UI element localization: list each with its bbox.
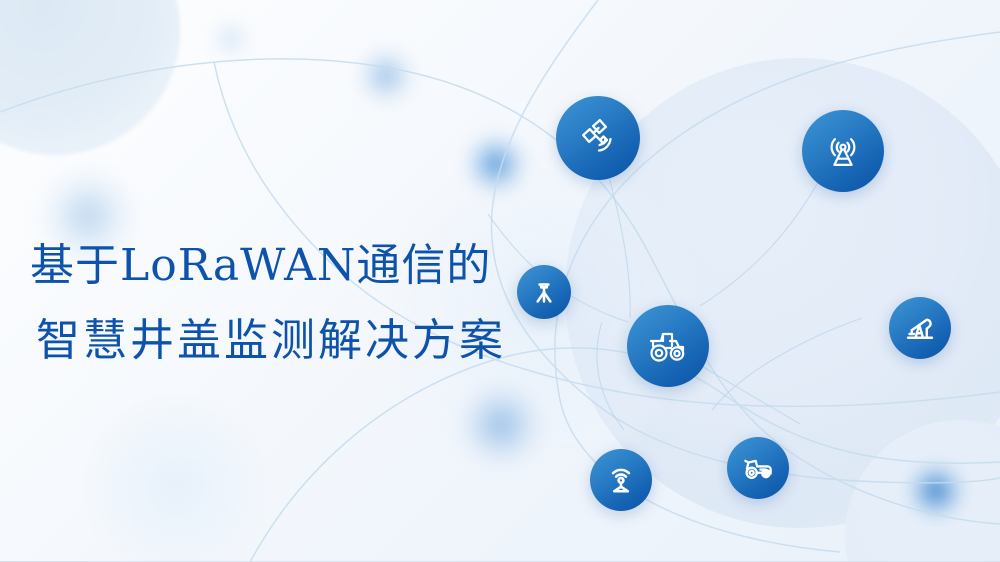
node-oil-pumpjack[interactable] <box>889 297 951 359</box>
accent-dot-top <box>210 18 252 60</box>
survey-tripod-icon <box>529 277 559 307</box>
wireless-sensor-icon <box>603 462 639 498</box>
node-radio-tower[interactable] <box>802 110 884 192</box>
accent-dot-center <box>462 130 530 198</box>
slide-title: 基于LoRaWAN通信的 智慧井盖监测解决方案 <box>30 228 550 378</box>
node-harvester[interactable] <box>727 437 789 499</box>
radio-tower-icon <box>820 128 866 174</box>
accent-dot-bottom-right <box>905 460 967 522</box>
background-sphere-bottom-left <box>90 400 260 562</box>
presentation-slide: 基于LoRaWAN通信的 智慧井盖监测解决方案 <box>0 0 1000 562</box>
background-sphere-top-left <box>0 0 180 155</box>
node-satellite[interactable] <box>556 96 640 180</box>
node-tractor[interactable] <box>627 305 709 387</box>
harvester-icon <box>739 449 777 487</box>
title-line-2: 智慧井盖监测解决方案 <box>30 303 550 378</box>
oil-pumpjack-icon <box>902 310 938 346</box>
title-line-1: 基于LoRaWAN通信的 <box>30 228 550 303</box>
tractor-icon <box>644 322 692 370</box>
background-sphere-bottom-right <box>845 420 1000 562</box>
node-wireless-sensor[interactable] <box>590 449 652 511</box>
accent-dot-lower-center <box>458 382 544 468</box>
node-survey-tripod[interactable] <box>517 265 571 319</box>
satellite-icon <box>574 114 622 162</box>
accent-dot-upper-center <box>355 45 417 107</box>
